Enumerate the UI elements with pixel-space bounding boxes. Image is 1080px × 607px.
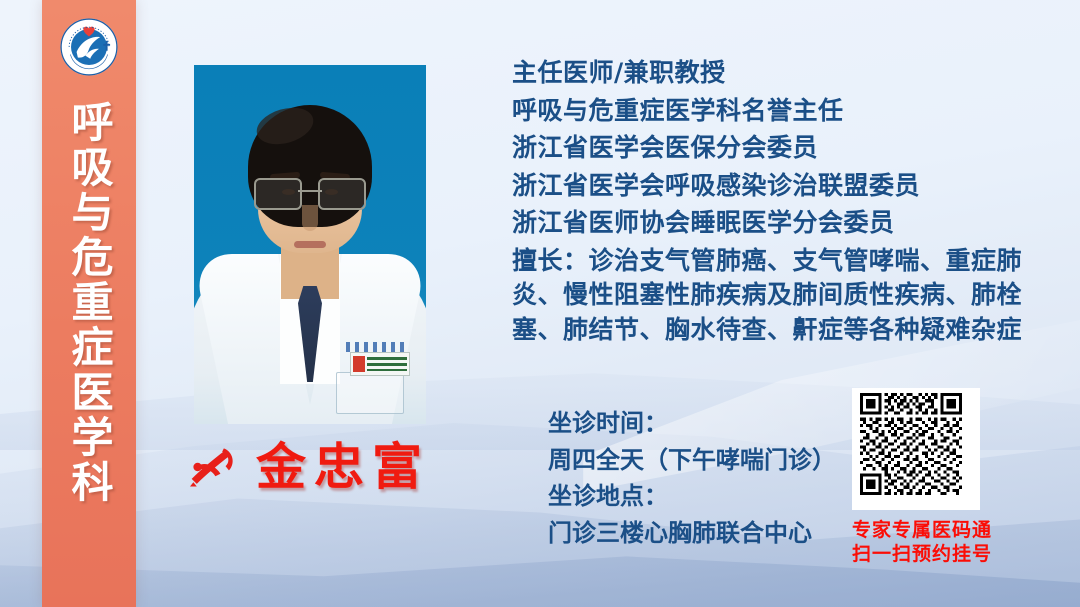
credential-line: 浙江省医师协会睡眠医学分会委员: [512, 206, 1032, 241]
schedule-time-label: 坐诊时间：: [548, 406, 868, 441]
qr-caption: 专家专属医码通 扫一扫预约挂号: [852, 518, 980, 567]
schedule-place-label: 坐诊地点：: [548, 479, 868, 514]
qr-caption-line-2: 扫一扫预约挂号: [852, 542, 980, 566]
cpc-emblem-icon: [186, 445, 238, 489]
doctor-profile-poster: 呼吸与危重症医学科 金忠富: [0, 0, 1080, 607]
doctor-name: 金忠富: [256, 442, 430, 492]
schedule-time-value: 周四全天（下午哮喘门诊）: [548, 443, 868, 478]
qr-code-container[interactable]: [852, 388, 980, 510]
doctor-name-row: 金忠富: [186, 442, 430, 492]
qr-block: 专家专属医码通 扫一扫预约挂号: [852, 388, 980, 567]
credential-line: 浙江省医学会医保分会委员: [512, 131, 1032, 166]
hospital-logo-icon: [58, 16, 120, 78]
credential-line: 呼吸与危重症医学科名誉主任: [512, 94, 1032, 129]
credential-line: 主任医师/兼职教授: [512, 56, 1032, 91]
doctor-photo: [194, 65, 426, 424]
credential-specialty: 擅长：诊治支气管肺癌、支气管哮喘、重症肺炎、慢性阻塞性肺疾病及肺间质性疾病、肺栓…: [512, 244, 1032, 348]
qr-caption-line-1: 专家专属医码通: [852, 518, 980, 542]
schedule-block: 坐诊时间： 周四全天（下午哮喘门诊） 坐诊地点： 门诊三楼心胸肺联合中心: [548, 406, 868, 552]
department-banner: 呼吸与危重症医学科: [42, 0, 136, 607]
department-title: 呼吸与危重症医学科: [65, 100, 113, 505]
credentials-block: 主任医师/兼职教授 呼吸与危重症医学科名誉主任 浙江省医学会医保分会委员 浙江省…: [512, 56, 1032, 350]
credential-line: 浙江省医学会呼吸感染诊治联盟委员: [512, 169, 1032, 204]
qr-code-icon[interactable]: [857, 393, 965, 495]
schedule-place-value: 门诊三楼心胸肺联合中心: [548, 516, 868, 551]
